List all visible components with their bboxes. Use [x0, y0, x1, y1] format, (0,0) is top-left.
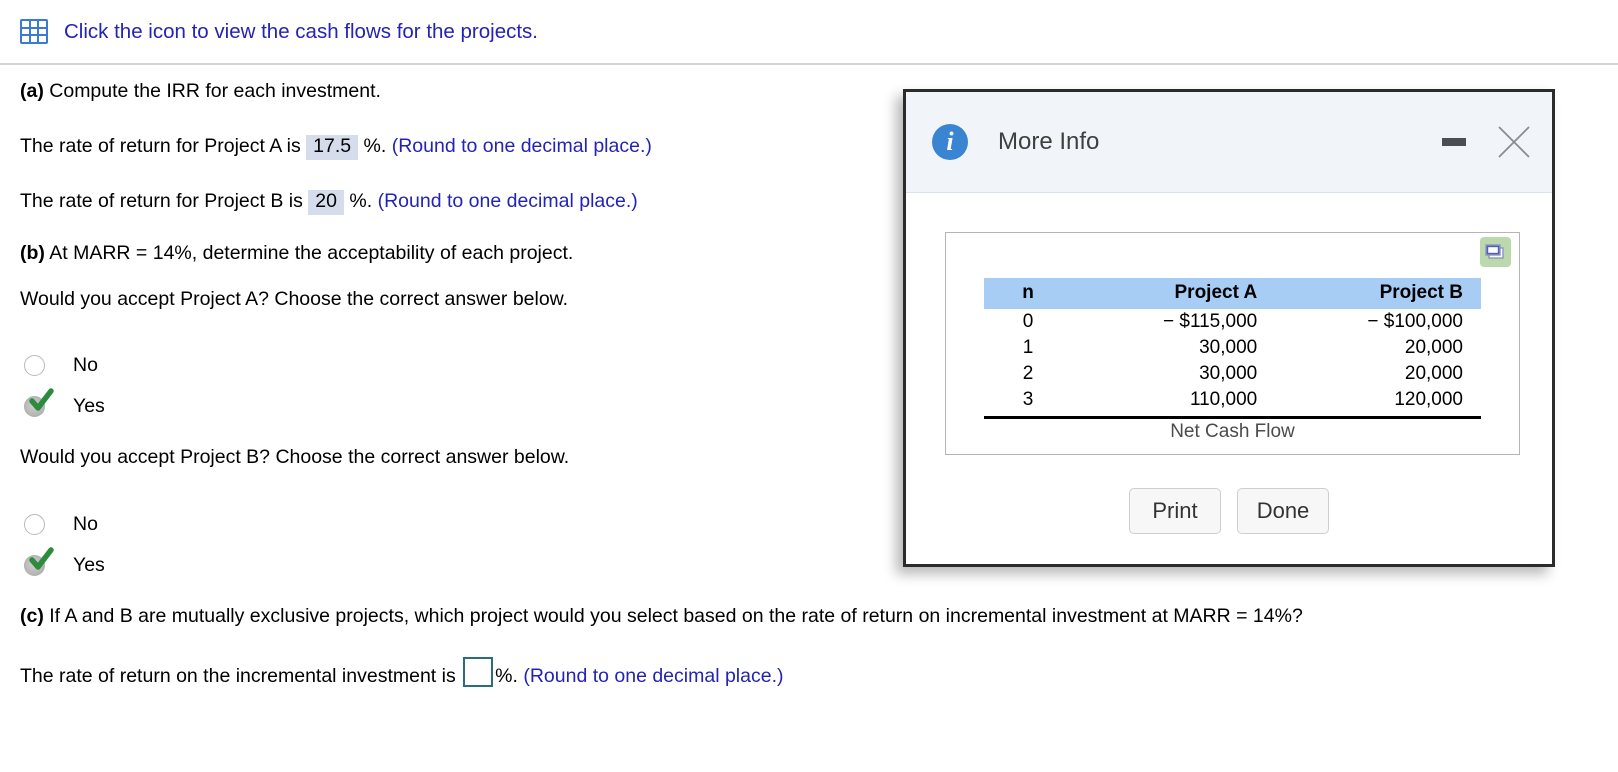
cell-project-b: − $100,000 — [1275, 309, 1481, 335]
dialog-body: n Project A Project B 0 − $115,000 − $10… — [906, 193, 1552, 564]
radio-label-b-no: No — [73, 513, 98, 536]
part-b-text: At MARR = 14%, determine the acceptabili… — [49, 242, 573, 264]
project-a-rate-suffix: %. — [364, 135, 387, 157]
part-b-heading: (b) At MARR = 14%, determine the accepta… — [20, 244, 573, 264]
checkmark-icon — [28, 388, 54, 414]
print-button[interactable]: Print — [1129, 488, 1221, 534]
checkmark-icon — [28, 547, 54, 573]
radio-label-a-no: No — [73, 354, 98, 377]
incremental-rate-prefix: The rate of return on the incremental in… — [20, 665, 456, 687]
radio-option-b-yes[interactable]: Yes — [24, 552, 105, 578]
incremental-rate-hint: (Round to one decimal place.) — [523, 665, 783, 687]
dialog-button-group: Print Done — [906, 488, 1552, 534]
radio-label-a-yes: Yes — [73, 395, 105, 418]
radio-option-b-no[interactable]: No — [24, 511, 98, 537]
project-b-rate-prefix: The rate of return for Project B is — [20, 190, 303, 212]
radio-button-a-no[interactable] — [24, 355, 45, 376]
cell-project-b: 20,000 — [1275, 361, 1481, 387]
more-info-dialog: i More Info n Project A Project — [903, 89, 1555, 567]
table-bottom-rule — [984, 416, 1481, 419]
done-button[interactable]: Done — [1237, 488, 1329, 534]
cashflow-table-panel: n Project A Project B 0 − $115,000 − $10… — [945, 232, 1520, 455]
question-accept-project-b: Would you accept Project B? Choose the c… — [20, 448, 569, 468]
copy-windows-icon[interactable] — [1480, 237, 1511, 267]
radio-option-a-yes[interactable]: Yes — [24, 393, 105, 419]
table-header-project-b: Project B — [1275, 278, 1481, 309]
question-accept-project-a: Would you accept Project A? Choose the c… — [20, 290, 568, 310]
close-icon[interactable] — [1496, 124, 1532, 160]
table-header-row: n Project A Project B — [984, 278, 1481, 309]
radio-option-a-no[interactable]: No — [24, 352, 98, 378]
radio-button-b-yes[interactable] — [24, 555, 45, 576]
cell-project-a: − $115,000 — [1072, 309, 1275, 335]
cell-n: 2 — [984, 361, 1072, 387]
project-a-rate-hint: (Round to one decimal place.) — [392, 135, 652, 157]
project-a-rate-line: The rate of return for Project A is 17.5… — [20, 135, 652, 160]
part-c-text: If A and B are mutually exclusive projec… — [49, 605, 1303, 627]
part-b-label: (b) — [20, 242, 45, 264]
cell-project-b: 120,000 — [1275, 387, 1481, 416]
part-a-label: (a) — [20, 80, 44, 102]
info-circle-icon: i — [932, 124, 968, 160]
project-b-rate-suffix: %. — [349, 190, 372, 212]
minimize-icon[interactable] — [1442, 138, 1466, 146]
project-a-rate-prefix: The rate of return for Project A is — [20, 135, 301, 157]
incremental-rate-suffix: %. — [495, 665, 518, 687]
part-c-label: (c) — [20, 605, 44, 627]
instruction-text[interactable]: Click the icon to view the cash flows fo… — [64, 20, 538, 44]
cell-project-a: 110,000 — [1072, 387, 1275, 416]
cell-n: 1 — [984, 335, 1072, 361]
table-row: 3 110,000 120,000 — [984, 387, 1481, 416]
table-row: 1 30,000 20,000 — [984, 335, 1481, 361]
table-caption: Net Cash Flow — [984, 421, 1481, 443]
part-c-heading: (c) If A and B are mutually exclusive pr… — [20, 607, 1303, 627]
project-b-rate-hint: (Round to one decimal place.) — [378, 190, 638, 212]
dialog-header: i More Info — [906, 92, 1552, 193]
dialog-title: More Info — [998, 128, 1099, 156]
cashflow-table: n Project A Project B 0 − $115,000 − $10… — [984, 278, 1481, 416]
project-b-rate-input[interactable]: 20 — [308, 190, 344, 215]
radio-label-b-yes: Yes — [73, 554, 105, 577]
cell-project-b: 20,000 — [1275, 335, 1481, 361]
radio-button-a-yes[interactable] — [24, 396, 45, 417]
part-a-heading: (a) Compute the IRR for each investment. — [20, 82, 381, 102]
cell-project-a: 30,000 — [1072, 335, 1275, 361]
part-a-text: Compute the IRR for each investment. — [49, 80, 381, 102]
project-b-rate-line: The rate of return for Project B is 20 %… — [20, 190, 638, 215]
cell-n: 3 — [984, 387, 1072, 416]
grid-table-icon[interactable] — [20, 19, 48, 44]
table-row: 2 30,000 20,000 — [984, 361, 1481, 387]
instruction-bar: Click the icon to view the cash flows fo… — [0, 0, 1618, 65]
radio-button-b-no[interactable] — [24, 514, 45, 535]
table-header-project-a: Project A — [1072, 278, 1275, 309]
table-row: 0 − $115,000 − $100,000 — [984, 309, 1481, 335]
table-header-n: n — [984, 278, 1072, 309]
cell-project-a: 30,000 — [1072, 361, 1275, 387]
project-a-rate-input[interactable]: 17.5 — [306, 135, 358, 160]
cell-n: 0 — [984, 309, 1072, 335]
incremental-rate-line: The rate of return on the incremental in… — [20, 657, 783, 687]
incremental-rate-input[interactable] — [463, 657, 493, 687]
